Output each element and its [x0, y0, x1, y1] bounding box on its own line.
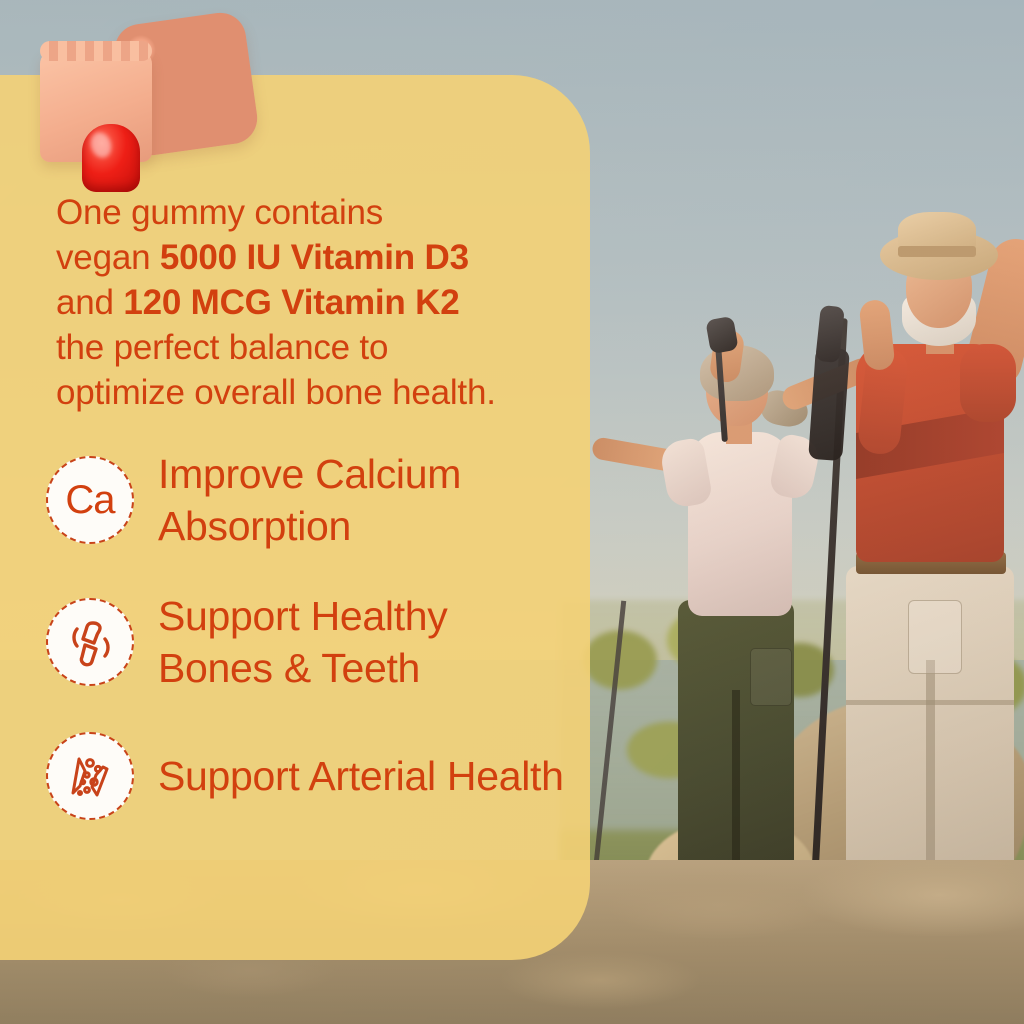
woman-pants-seam	[732, 690, 740, 886]
benefit-label: Support Healthy Bones & Teeth	[158, 590, 566, 694]
marketing-image: One gummy contains vegan 5000 IU Vitamin…	[0, 0, 1024, 1024]
gummy-filling	[82, 124, 140, 192]
headline-line-1: One gummy contains	[56, 193, 383, 232]
man-cargo-pocket	[908, 600, 962, 674]
man-hat-band	[898, 246, 976, 257]
man-zip-off-seam	[846, 700, 1014, 705]
headline-line-4: the perfect balance to	[56, 328, 388, 367]
calcium-icon: Ca	[46, 456, 134, 544]
man-shoulder	[960, 344, 1016, 422]
artery-icon	[46, 732, 134, 820]
calcium-symbol-label: Ca	[65, 480, 114, 520]
headline-line-5: optimize overall bone health.	[56, 373, 496, 412]
list-item: Support Arterial Health	[46, 732, 566, 820]
trekking-pole-secondary-grip	[705, 316, 738, 354]
list-item: Ca Improve Calcium Absorption	[46, 448, 566, 552]
headline-line-2-prefix: vegan	[56, 238, 160, 277]
list-item: Support Healthy Bones & Teeth	[46, 590, 566, 694]
benefit-label: Support Arterial Health	[158, 750, 564, 802]
benefits-list: Ca Improve Calcium Absorption Support He…	[46, 448, 566, 858]
gummy-product-image	[22, 12, 262, 172]
headline-k2-dose: 120 MCG Vitamin K2	[123, 283, 459, 322]
woman-cargo-pocket	[750, 648, 792, 706]
headline-line-3-prefix: and	[56, 283, 123, 322]
headline-d3-dose: 5000 IU Vitamin D3	[160, 238, 469, 277]
gummy-cutaway-icon	[40, 50, 152, 162]
benefit-label: Improve Calcium Absorption	[158, 448, 566, 552]
bone-joint-icon	[46, 598, 134, 686]
page-title: One gummy contains vegan 5000 IU Vitamin…	[56, 190, 536, 415]
